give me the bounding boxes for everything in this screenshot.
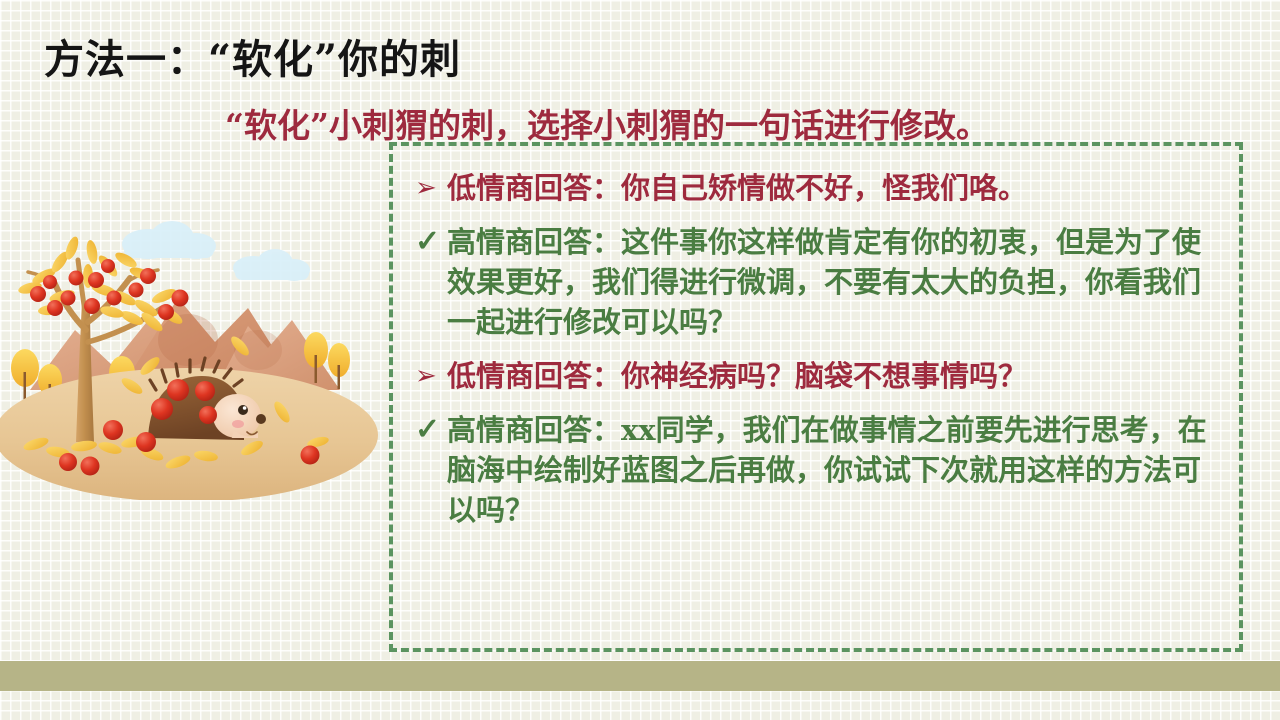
check-bullet-icon: ✓ (415, 222, 447, 262)
list-item: ✓ 高情商回答：xx同学，我们在做事情之前要先进行思考，在脑海中绘制好蓝图之后再… (415, 410, 1223, 530)
autumn-hedgehog-illustration (0, 190, 390, 500)
slide-subtitle: “软化”小刺猬的刺，选择小刺猬的一句话进行修改。 (225, 99, 989, 147)
slide-title: 方法一：“软化”你的刺 (44, 27, 461, 85)
list-item: ✓ 高情商回答：这件事你这样做肯定有你的初衷，但是为了使效果更好，我们得进行微调… (415, 222, 1223, 342)
list-item: ➢ 低情商回答：你自己矫情做不好，怪我们咯。 (415, 168, 1223, 208)
check-bullet-icon: ✓ (415, 410, 447, 450)
list-item-text: 低情商回答：你神经病吗？脑袋不想事情吗？ (447, 356, 1223, 396)
arrow-bullet-icon: ➢ (415, 168, 447, 208)
list-item: ➢ 低情商回答：你神经病吗？脑袋不想事情吗？ (415, 356, 1223, 396)
arrow-bullet-icon: ➢ (415, 356, 447, 396)
slide-canvas: 方法一：“软化”你的刺 “软化”小刺猬的刺，选择小刺猬的一句话进行修改。 ➢ 低… (0, 0, 1280, 720)
cloud-icon (233, 249, 310, 281)
bottom-accent-band (0, 661, 1280, 691)
list-item-text: 低情商回答：你自己矫情做不好，怪我们咯。 (447, 168, 1223, 208)
list-item-text: 高情商回答：xx同学，我们在做事情之前要先进行思考，在脑海中绘制好蓝图之后再做，… (447, 410, 1223, 530)
content-box: ➢ 低情商回答：你自己矫情做不好，怪我们咯。 ✓ 高情商回答：这件事你这样做肯定… (389, 142, 1243, 652)
list-item-text: 高情商回答：这件事你这样做肯定有你的初衷，但是为了使效果更好，我们得进行微调，不… (447, 222, 1223, 342)
cloud-icon (122, 221, 216, 259)
